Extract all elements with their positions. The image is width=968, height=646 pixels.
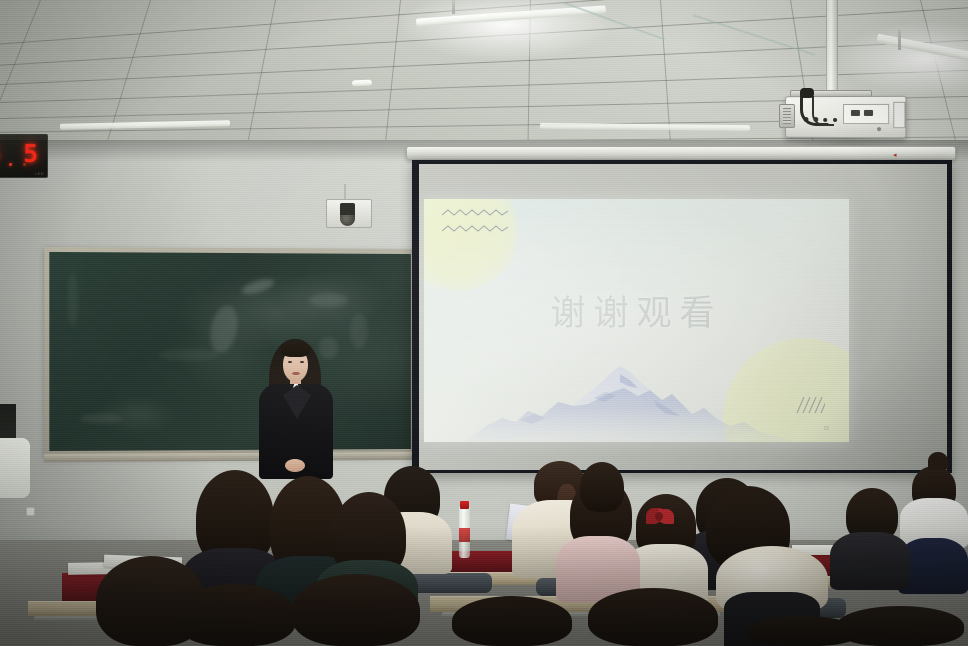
projector-mount-pole: [826, 0, 838, 96]
presenter-eye: [288, 361, 292, 363]
led-wall-clock: 5 5 LED: [0, 134, 48, 178]
presenter-hands: [285, 459, 305, 472]
light-rod: [898, 30, 901, 50]
ceiling-spot-light: [352, 80, 372, 87]
projector-hdmi-port: [851, 110, 860, 116]
diagonal-hatch-lines-icon: [795, 396, 825, 414]
zigzag-lines-icon: [442, 209, 508, 239]
wall-camera-icon: [326, 199, 372, 228]
clock-indicator-dot: [23, 163, 26, 166]
camera-dome-icon: [340, 215, 355, 226]
chalk-smudge: [309, 293, 348, 307]
presenter-mouth: [292, 372, 300, 375]
clock-digits: 5 5: [0, 139, 42, 168]
projector-lens: [779, 104, 795, 128]
projection-screen: 谢谢观看 15: [412, 160, 952, 473]
slide-title: 谢谢观看: [424, 285, 849, 336]
hair-bow-knot-icon: [655, 512, 663, 521]
chalk-smudge: [159, 349, 219, 361]
classroom-photo: 5 5 LED: [0, 0, 968, 646]
bottle-label: [459, 528, 470, 542]
roller-marking: ◂: [893, 151, 897, 159]
snow-mountain-illustration-icon: [424, 356, 849, 442]
projector-cable: [812, 96, 834, 126]
left-wall-white-panel: [0, 438, 30, 498]
chalk-smudge: [318, 337, 338, 359]
screen-roller-housing[interactable]: ◂: [406, 146, 956, 160]
projector-label-panel: [893, 102, 905, 128]
clock-indicator-dot: [9, 163, 12, 166]
presenter-eye: [300, 361, 304, 363]
projector-cable-clamp: [800, 88, 814, 98]
presenter-fringe: [281, 340, 310, 357]
projected-slide: 谢谢观看 15: [424, 199, 849, 442]
projector-status-led: [877, 127, 881, 131]
chalk-smudge: [350, 313, 368, 349]
camera-mount-stem: [344, 184, 346, 200]
slide-content: 谢谢观看 15: [424, 199, 849, 442]
chalk-smudge: [68, 272, 78, 327]
projector-vent-grill: [783, 108, 791, 124]
clock-brand-label: LED: [35, 171, 44, 176]
projector-vga-port: [864, 110, 873, 116]
bottle-cap: [460, 501, 469, 509]
blackboard-surface: [49, 252, 411, 451]
wall-outlet[interactable]: [26, 507, 35, 516]
blackboard: [44, 247, 416, 458]
screen-surface: 谢谢观看 15: [419, 164, 947, 470]
slide-page-number: 15: [823, 426, 829, 432]
light-rod: [452, 0, 455, 14]
